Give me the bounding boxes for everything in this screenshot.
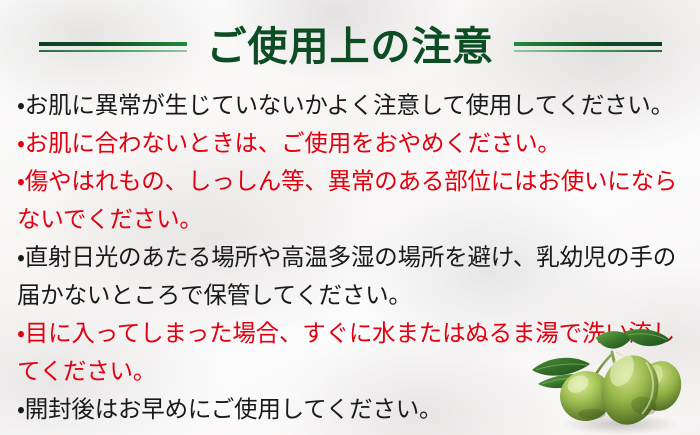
rule-left-thick-bar (39, 42, 187, 46)
notice-text: 開封後はお早めにご使用してください。 (25, 396, 443, 422)
notice-text: 傷やはれもの、しっしん等、異常のある部位にはお使いにならないでください。 (17, 168, 677, 232)
notice-list: ・お肌に異常が生じていないかよく注意して使用してください。 ・お肌に合わないとき… (17, 86, 689, 435)
notice-item: ・傷やはれもの、しっしん等、異常のある部位にはお使いにならないでください。 (17, 162, 689, 238)
bullet-icon: ・ (17, 244, 25, 270)
notice-item: ・使用後は必ずしっかりフタを閉めてください。 (17, 428, 689, 435)
notice-text: 目に入ってしまった場合、すぐに水またはぬるま湯で洗い流してください。 (17, 320, 675, 384)
bullet-icon: ・ (17, 168, 25, 194)
notice-item: ・目に入ってしまった場合、すぐに水またはぬるま湯で洗い流してください。 (17, 314, 689, 390)
double-rule-right-icon (514, 40, 662, 54)
bullet-icon: ・ (17, 396, 25, 422)
notice-text: 直射日光のあたる場所や高温多湿の場所を避け、乳幼児の手の届かないところで保管して… (17, 244, 676, 308)
notice-item: ・直射日光のあたる場所や高温多湿の場所を避け、乳幼児の手の届かないところで保管し… (17, 238, 689, 314)
title-row: ご使用上の注意 (0, 18, 700, 76)
rule-right-thin-bar (514, 50, 662, 52)
bullet-icon: ・ (17, 130, 25, 156)
notice-text: お肌に異常が生じていないかよく注意して使用してください。 (25, 92, 674, 118)
page-title: ご使用上の注意 (203, 27, 498, 67)
notice-item: ・開封後はお早めにご使用してください。 (17, 390, 689, 428)
rule-left-thin-bar (39, 50, 187, 52)
double-rule-left-icon (39, 40, 187, 54)
bullet-icon: ・ (17, 320, 25, 346)
bullet-icon: ・ (17, 92, 25, 118)
notice-item: ・お肌に合わないときは、ご使用をおやめください。 (17, 124, 689, 162)
notice-panel: ご使用上の注意 ・お肌に異常が生じていないかよく注意して使用してください。 ・お… (0, 0, 700, 435)
notice-text: お肌に合わないときは、ご使用をおやめください。 (25, 130, 561, 156)
rule-right-thick-bar (514, 42, 662, 46)
notice-item: ・お肌に異常が生じていないかよく注意して使用してください。 (17, 86, 689, 124)
